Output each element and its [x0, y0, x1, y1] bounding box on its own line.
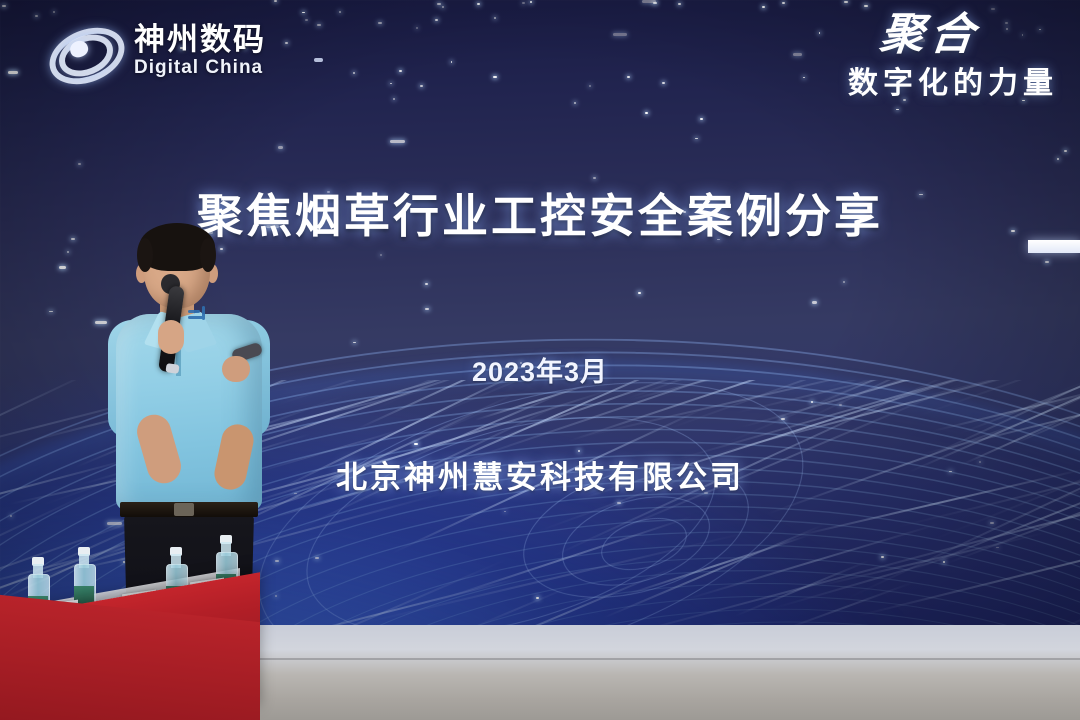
brand-lockup-left: 神州数码 Digital China [46, 18, 266, 84]
speaker-hand-left [158, 320, 184, 354]
speaker-belt-buckle [174, 503, 194, 516]
screen-edge-bar [1028, 240, 1080, 253]
event-calligraphy: 聚合 [846, 14, 982, 56]
speaker-hand-right [222, 356, 250, 382]
brand-name-cn: 神州数码 [134, 24, 266, 57]
speaker-chest-logo-icon [188, 306, 214, 328]
conference-photo: 聚焦烟草行业工控安全案例分享 2023年3月 北京神州慧安科技有限公司 神州数码… [0, 0, 1080, 720]
speaker-figure [96, 228, 286, 628]
brand-name-en: Digital China [134, 58, 266, 78]
digital-china-swirl-icon [46, 18, 122, 84]
event-subtitle: 数字化的力量 [848, 58, 1058, 102]
brand-dot-mark [314, 58, 323, 62]
brand-lockup-right: 聚合 数字化的力量 [848, 14, 1058, 102]
